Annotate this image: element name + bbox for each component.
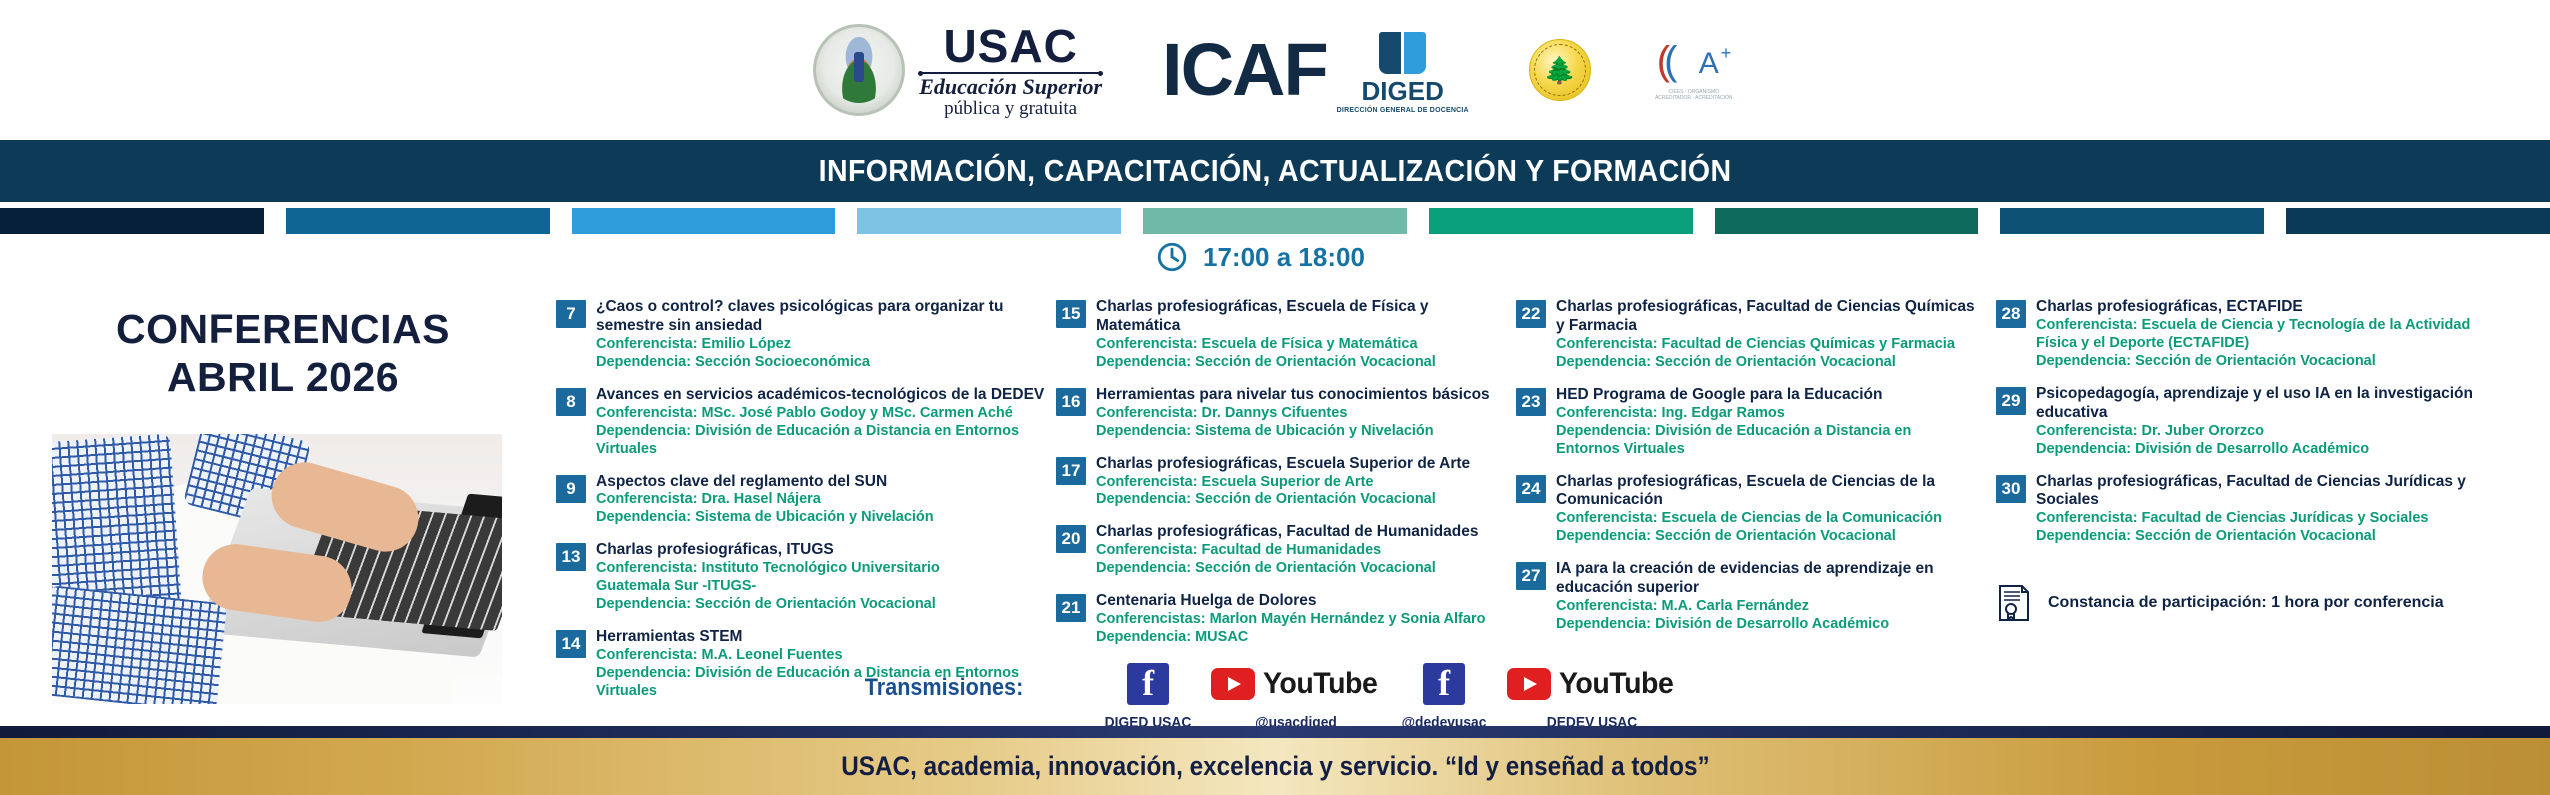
aplus-caption: CIEES · ORGANISMO ACREDITADOR · ACREDITA… (1651, 89, 1737, 101)
conference-body: Centenaria Huelga de DoloresConferencist… (1096, 592, 1506, 647)
conference-item: 22Charlas profesiográficas, Facultad de … (1516, 298, 1986, 372)
conference-body: Herramientas para nivelar tus conocimien… (1096, 386, 1506, 441)
conference-item: 21Centenaria Huelga de DoloresConferenci… (1056, 592, 1506, 647)
shirt-cuff (52, 585, 227, 704)
constancia-text: Constancia de participación: 1 hora por … (2048, 594, 2444, 612)
acreditacion-a-plus-seal: (( A + CIEES · ORGANISMO ACREDITADOR · A… (1651, 37, 1737, 103)
conference-column-2: 15Charlas profesiográficas, Escuela de F… (1056, 298, 1516, 715)
color-chip-strip (0, 208, 2550, 234)
conference-item: 13Charlas profesiográficas, ITUGSConfere… (556, 541, 1046, 614)
conference-item: 15Charlas profesiográficas, Escuela de F… (1056, 298, 1506, 372)
color-chip-4 (857, 208, 1121, 234)
color-chip-8 (2000, 208, 2264, 234)
conference-item: 23HED Programa de Google para la Educaci… (1516, 386, 1986, 459)
color-chip-5 (1143, 208, 1407, 234)
aplus-letter: A (1699, 47, 1719, 81)
conference-detail-line: Conferencista: Facultad de Ciencias Quím… (1556, 336, 1986, 354)
conference-title: Charlas profesiográficas, Escuela de Cie… (1556, 473, 1986, 511)
conference-detail-line: Conferencista: Escuela de Ciencias de la… (1556, 510, 1986, 528)
diged-tagline: DIRECCIÓN GENERAL DE DOCENCIA (1337, 107, 1469, 114)
page-title: CONFERENCIAS ABRIL 2026 (38, 305, 528, 402)
color-chip-1 (0, 208, 264, 234)
conference-detail-line: Conferencista: Dr. Dannys Cifuentes (1096, 405, 1506, 423)
conference-detail-line: Dependencia: MUSAC (1096, 629, 1506, 647)
day-badge: 8 (556, 388, 586, 416)
day-badge: 7 (556, 300, 586, 328)
main-title-bar: INFORMACIÓN, CAPACITACIÓN, ACTUALIZACIÓN… (0, 140, 2550, 202)
conference-title: Centenaria Huelga de Dolores (1096, 592, 1506, 611)
conference-body: ¿Caos o control? claves psicológicas par… (596, 298, 1046, 372)
conference-title: Charlas profesiográficas, Facultad de Hu… (1096, 523, 1506, 542)
conference-title: Aspectos clave del reglamento del SUN (596, 473, 1046, 492)
conference-detail-line: Dependencia: División de Educación a Dis… (1556, 423, 1986, 441)
conference-title: Charlas profesiográficas, Facultad de Ci… (2036, 473, 2486, 511)
day-badge: 29 (1996, 387, 2026, 415)
conference-item: 27IA para la creación de evidencias de a… (1516, 560, 1986, 634)
conference-detail-line: Dependencia: Sección de Orientación Voca… (2036, 528, 2486, 546)
conference-detail-line: Guatemala Sur -ITUGS- (596, 578, 1046, 596)
conference-title: Charlas profesiográficas, Escuela de Fís… (1096, 298, 1506, 336)
conference-detail-line: Conferencista: Escuela de Física y Matem… (1096, 336, 1506, 354)
diged-logo: DIGED DIRECCIÓN GENERAL DE DOCENCIA (1337, 26, 1469, 114)
conference-body: Charlas profesiográficas, Escuela de Cie… (1556, 473, 1986, 547)
conference-detail-line: Conferencista: Escuela de Ciencia y Tecn… (2036, 317, 2486, 335)
facebook-icon[interactable] (1127, 663, 1169, 705)
conference-detail-line: Conferencista: Instituto Tecnológico Uni… (596, 560, 1046, 578)
conference-body: Psicopedagogía, aprendizaje y el uso IA … (2036, 385, 2486, 459)
conference-detail-line: Dependencia: Sección de Orientación Voca… (2036, 353, 2486, 371)
day-badge: 24 (1516, 475, 1546, 503)
conference-detail-line: Dependencia: División de Desarrollo Acad… (2036, 441, 2486, 459)
day-badge: 30 (1996, 475, 2026, 503)
flyer-page: USAC Educación Superior pública y gratui… (0, 0, 2550, 795)
conference-body: Charlas profesiográficas, Facultad de Ci… (1556, 298, 1986, 372)
conference-detail-line: Conferencista: Facultad de Humanidades (1096, 542, 1506, 560)
logo-header: USAC Educación Superior pública y gratui… (0, 0, 2550, 140)
day-badge: 14 (556, 630, 586, 658)
footer-slogan: USAC, academia, innovación, excelencia y… (841, 751, 1709, 782)
laptop-photo (52, 434, 502, 704)
conference-column-3: 22Charlas profesiográficas, Facultad de … (1516, 298, 1996, 715)
page-title-line1: CONFERENCIAS (38, 305, 528, 353)
conference-title: Charlas profesiográficas, Escuela Superi… (1096, 455, 1506, 474)
conference-item: 24Charlas profesiográficas, Escuela de C… (1516, 473, 1986, 547)
footer-gold-bar: USAC, academia, innovación, excelencia y… (0, 738, 2550, 795)
usac-acronym: USAC (943, 23, 1077, 69)
social-network-youtube[interactable]: YouTube@usacdiged (1222, 660, 1370, 731)
conference-body: Charlas profesiográficas, ITUGSConferenc… (596, 541, 1046, 614)
conference-item: 30Charlas profesiográficas, Facultad de … (1996, 473, 2486, 547)
conference-detail-line: Conferencista: Ing. Edgar Ramos (1556, 405, 1986, 423)
page-title-line2: ABRIL 2026 (38, 353, 528, 401)
social-network-youtube[interactable]: YouTubeDEDEV USAC (1518, 660, 1666, 731)
usac-wordmark: USAC Educación Superior pública y gratui… (919, 23, 1102, 118)
youtube-icon[interactable]: YouTube (1518, 660, 1666, 708)
conference-title: Charlas profesiográficas, Facultad de Ci… (1556, 298, 1986, 336)
conference-column-1: 7¿Caos o control? claves psicológicas pa… (556, 298, 1056, 715)
transmissions-row: Transmisiones: DIGED USACYouTube@usacdig… (856, 660, 1666, 731)
day-badge: 13 (556, 543, 586, 571)
conference-body: Charlas profesiográficas, Escuela de Fís… (1096, 298, 1506, 372)
conference-body: HED Programa de Google para la Educación… (1556, 386, 1986, 459)
main-title-text: INFORMACIÓN, CAPACITACIÓN, ACTUALIZACIÓN… (819, 153, 1732, 189)
conference-detail-line: Dependencia: División de Educación a Dis… (596, 423, 1046, 459)
day-badge: 17 (1056, 457, 1086, 485)
conference-detail-line: Conferencista: Facultad de Ciencias Jurí… (2036, 510, 2486, 528)
tree-icon: 🌲 (1544, 57, 1576, 83)
conference-title: Psicopedagogía, aprendizaje y el uso IA … (2036, 385, 2486, 423)
conference-detail-line: Dependencia: Sección de Orientación Voca… (1556, 528, 1986, 546)
diged-name: DIGED (1362, 76, 1444, 107)
conference-body: Charlas profesiográficas, Facultad de Ci… (2036, 473, 2486, 547)
conference-body: Avances en servicios académicos-tecnológ… (596, 386, 1046, 459)
conference-title: Charlas profesiográficas, ITUGS (596, 541, 1046, 560)
conference-column-4: 28Charlas profesiográficas, ECTAFIDEConf… (1996, 298, 2496, 715)
day-badge: 28 (1996, 300, 2026, 328)
conference-detail-line: Entornos Virtuales (1556, 441, 1986, 459)
conference-title: IA para la creación de evidencias de apr… (1556, 560, 1986, 598)
youtube-icon[interactable] (1507, 668, 1551, 700)
time-text: 17:00 a 18:00 (1203, 242, 1365, 273)
conference-item: 20Charlas profesiográficas, Facultad de … (1056, 523, 1506, 578)
facebook-icon[interactable] (1074, 660, 1222, 708)
conference-detail-line: Conferencista: MSc. José Pablo Godoy y M… (596, 405, 1046, 423)
day-badge: 21 (1056, 594, 1086, 622)
day-badge: 20 (1056, 525, 1086, 553)
conference-detail-line: Física y el Deporte (ECTAFIDE) (2036, 335, 2486, 353)
color-chip-2 (286, 208, 550, 234)
usac-script-line: Educación Superior (919, 76, 1102, 98)
conference-title: Avances en servicios académicos-tecnológ… (596, 386, 1046, 405)
conference-item: 9Aspectos clave del reglamento del SUNCo… (556, 473, 1046, 528)
conference-body: Charlas profesiográficas, Escuela Superi… (1096, 455, 1506, 510)
clock-icon (1155, 240, 1189, 274)
facebook-icon[interactable] (1370, 660, 1518, 708)
icaf-logo: ICAF DIGED DIRECCIÓN GENERAL DE DOCENCIA (1162, 26, 1469, 114)
conference-item: 7¿Caos o control? claves psicológicas pa… (556, 298, 1046, 372)
hceres-accreditation-seal-icon: 🌲 (1529, 39, 1591, 101)
conference-detail-line: Conferencista: Dra. Hasel Nájera (596, 491, 1046, 509)
conference-detail-line: Dependencia: Sistema de Ubicación y Nive… (1096, 423, 1506, 441)
conference-detail-line: Dependencia: Sección de Orientación Voca… (1096, 560, 1506, 578)
usac-seal-icon (813, 24, 905, 116)
usac-sub-line: pública y gratuita (944, 99, 1077, 118)
conference-title: Charlas profesiográficas, ECTAFIDE (2036, 298, 2486, 317)
color-chip-7 (1715, 208, 1979, 234)
conference-detail-line: Dependencia: Sección de Orientación Voca… (596, 596, 1046, 614)
aplus-plus: + (1721, 43, 1732, 64)
youtube-logo[interactable]: YouTube (1507, 667, 1676, 701)
conference-title: ¿Caos o control? claves psicológicas par… (596, 298, 1046, 336)
day-badge: 22 (1516, 300, 1546, 328)
conference-detail-line: Dependencia: Sistema de Ubicación y Nive… (596, 509, 1046, 527)
conference-body: Aspectos clave del reglamento del SUNCon… (596, 473, 1046, 528)
color-chip-3 (572, 208, 836, 234)
open-book-icon (1379, 32, 1426, 74)
conference-item: 8Avances en servicios académicos-tecnoló… (556, 386, 1046, 459)
youtube-wordmark: YouTube (1263, 667, 1377, 701)
conference-columns: 7¿Caos o control? claves psicológicas pa… (556, 298, 2536, 715)
conference-detail-line: Dependencia: Sección de Orientación Voca… (1096, 354, 1506, 372)
conference-detail-line: Conferencista: Escuela Superior de Arte (1096, 474, 1506, 492)
conference-title: Herramientas para nivelar tus conocimien… (1096, 386, 1506, 405)
social-networks: DIGED USACYouTube@usacdiged@dedevusacYou… (1074, 660, 1666, 731)
day-badge: 15 (1056, 300, 1086, 328)
social-network-facebook[interactable]: DIGED USAC (1074, 660, 1222, 731)
facebook-icon[interactable] (1423, 663, 1465, 705)
color-chip-9 (2286, 208, 2550, 234)
youtube-icon[interactable]: YouTube (1222, 660, 1370, 708)
youtube-icon[interactable] (1211, 668, 1255, 700)
conference-detail-line: Conferencistas: Marlon Mayén Hernández y… (1096, 611, 1506, 629)
arcs-icon: (( (1657, 41, 1672, 81)
conference-item: 17Charlas profesiográficas, Escuela Supe… (1056, 455, 1506, 510)
icaf-wordmark: ICAF (1162, 39, 1327, 102)
usac-divider-line (919, 72, 1102, 74)
youtube-wordmark: YouTube (1559, 667, 1673, 701)
day-badge: 23 (1516, 388, 1546, 416)
youtube-logo[interactable]: YouTube (1211, 667, 1380, 701)
conference-item: 16Herramientas para nivelar tus conocimi… (1056, 386, 1506, 441)
conference-title: HED Programa de Google para la Educación (1556, 386, 1986, 405)
conference-detail-line: Dependencia: Sección Socioeconómica (596, 354, 1046, 372)
conference-title: Herramientas STEM (596, 628, 1046, 647)
certificate-icon (1998, 584, 2030, 622)
shirt-sleeve (52, 434, 182, 612)
day-badge: 9 (556, 475, 586, 503)
transmissions-label: Transmisiones: (865, 660, 1023, 702)
conference-detail-line: Conferencista: Emilio López (596, 336, 1046, 354)
conference-body: Charlas profesiográficas, ECTAFIDEConfer… (2036, 298, 2486, 371)
conference-item: 28Charlas profesiográficas, ECTAFIDEConf… (1996, 298, 2486, 371)
conference-detail-line: Dependencia: Sección de Orientación Voca… (1096, 491, 1506, 509)
conference-detail-line: Dependencia: División de Desarrollo Acad… (1556, 616, 1986, 634)
conference-body: Charlas profesiográficas, Facultad de Hu… (1096, 523, 1506, 578)
conference-detail-line: Dependencia: Sección de Orientación Voca… (1556, 354, 1986, 372)
constancia-note: Constancia de participación: 1 hora por … (1998, 584, 2486, 622)
usac-logo: USAC Educación Superior pública y gratui… (813, 23, 1102, 118)
schedule-time: 17:00 a 18:00 (1155, 240, 1365, 274)
color-chip-6 (1429, 208, 1693, 234)
conference-detail-line: Conferencista: Dr. Juber Ororzco (2036, 423, 2486, 441)
day-badge: 16 (1056, 388, 1086, 416)
footer-navy-strip (0, 726, 2550, 738)
social-network-facebook[interactable]: @dedevusac (1370, 660, 1518, 731)
conference-item: 29Psicopedagogía, aprendizaje y el uso I… (1996, 385, 2486, 459)
conference-body: IA para la creación de evidencias de apr… (1556, 560, 1986, 634)
conference-detail-line: Conferencista: M.A. Carla Fernández (1556, 598, 1986, 616)
day-badge: 27 (1516, 562, 1546, 590)
